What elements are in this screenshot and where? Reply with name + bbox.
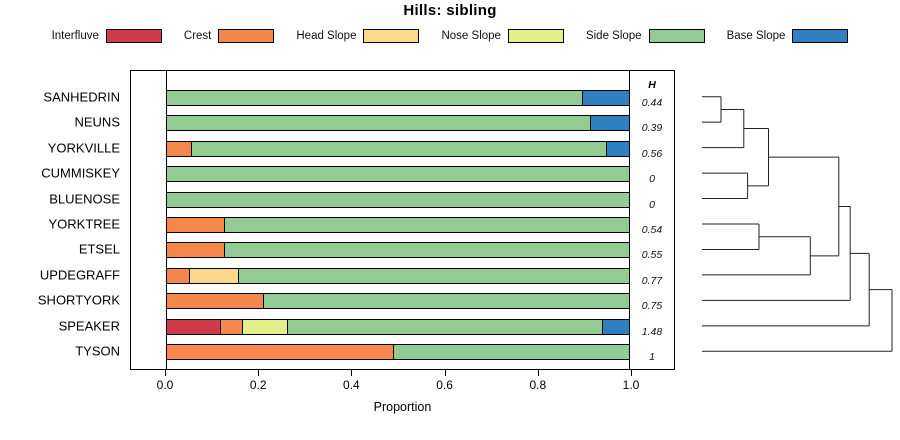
legend-item-label: Crest bbox=[184, 30, 211, 42]
bar-segment[interactable] bbox=[606, 142, 629, 156]
bar-segment[interactable] bbox=[191, 142, 606, 156]
chart-row bbox=[166, 342, 630, 362]
x-axis-tick-label: 0.4 bbox=[343, 378, 360, 392]
h-column: H 0.440.390.56000.540.550.770.751.481 bbox=[632, 70, 674, 370]
chart-row bbox=[166, 317, 630, 337]
bar-segment[interactable] bbox=[167, 167, 629, 181]
h-value: 0.55 bbox=[632, 249, 672, 261]
bar-segment[interactable] bbox=[242, 320, 287, 334]
h-value: 1 bbox=[632, 351, 672, 363]
h-value: 0.39 bbox=[632, 122, 672, 134]
legend-color-swatch bbox=[649, 29, 705, 43]
legend-item[interactable]: Head Slope bbox=[296, 29, 419, 43]
chart-root: Hills: sibling InterfluveCrestHead Slope… bbox=[0, 0, 900, 440]
h-value: 0 bbox=[632, 173, 672, 185]
bar-segment[interactable] bbox=[167, 243, 224, 257]
stacked-bar[interactable] bbox=[166, 192, 630, 208]
chart-title: Hills: sibling bbox=[0, 2, 900, 19]
chart-row bbox=[166, 190, 630, 210]
stacked-bar[interactable] bbox=[166, 242, 630, 258]
category-axis-labels: SANHEDRINNEUNSYORKVILLECUMMISKEYBLUENOSE… bbox=[0, 70, 126, 370]
h-column-header: H bbox=[632, 79, 672, 91]
bar-segment[interactable] bbox=[167, 294, 263, 308]
chart-row bbox=[166, 88, 630, 108]
chart-row bbox=[166, 113, 630, 133]
legend-item-label: Head Slope bbox=[296, 30, 356, 42]
category-label: SPEAKER bbox=[59, 318, 120, 333]
category-label: YORKTREE bbox=[48, 217, 120, 232]
category-label: BLUENOSE bbox=[49, 191, 120, 206]
bar-segment[interactable] bbox=[167, 116, 590, 130]
category-label: UPDEGRAFF bbox=[40, 267, 120, 282]
legend-item[interactable]: Base Slope bbox=[727, 29, 849, 43]
stacked-bar[interactable] bbox=[166, 217, 630, 233]
chart-row bbox=[166, 139, 630, 159]
x-axis-tick bbox=[351, 370, 352, 376]
x-axis-tick-label: 0.6 bbox=[436, 378, 453, 392]
h-value: 0.77 bbox=[632, 275, 672, 287]
chart-row bbox=[166, 291, 630, 311]
stacked-bar[interactable] bbox=[166, 344, 630, 360]
legend-color-swatch bbox=[106, 29, 162, 43]
bar-segment[interactable] bbox=[220, 320, 243, 334]
stacked-bar[interactable] bbox=[166, 141, 630, 157]
category-label: NEUNS bbox=[74, 115, 120, 130]
x-axis-tick-label: 1.0 bbox=[623, 378, 640, 392]
stacked-bar[interactable] bbox=[166, 90, 630, 106]
bar-segment[interactable] bbox=[287, 320, 602, 334]
bar-segment[interactable] bbox=[189, 269, 238, 283]
bar-segment[interactable] bbox=[602, 320, 629, 334]
category-label: TYSON bbox=[75, 344, 120, 359]
bar-segment[interactable] bbox=[224, 243, 629, 257]
chart-row bbox=[166, 215, 630, 235]
x-axis-tick bbox=[445, 370, 446, 376]
h-value: 0.44 bbox=[632, 97, 672, 109]
bar-segment[interactable] bbox=[224, 218, 629, 232]
category-label: CUMMISKEY bbox=[41, 166, 120, 181]
legend: InterfluveCrestHead SlopeNose SlopeSide … bbox=[0, 26, 900, 46]
chart-row bbox=[166, 164, 630, 184]
h-value: 0.54 bbox=[632, 224, 672, 236]
chart-row bbox=[166, 240, 630, 260]
bar-segment[interactable] bbox=[167, 91, 582, 105]
legend-item-label: Nose Slope bbox=[441, 30, 500, 42]
bar-segment[interactable] bbox=[393, 345, 629, 359]
x-axis-label: Proportion bbox=[130, 400, 675, 414]
category-label: SANHEDRIN bbox=[43, 89, 120, 104]
legend-color-swatch bbox=[218, 29, 274, 43]
h-value: 0.75 bbox=[632, 300, 672, 312]
category-label: SHORTYORK bbox=[38, 293, 120, 308]
dendrogram-svg bbox=[680, 70, 898, 370]
legend-item-label: Interfluve bbox=[52, 30, 99, 42]
dendrogram bbox=[680, 70, 898, 370]
legend-item[interactable]: Side Slope bbox=[586, 29, 705, 43]
chart-row bbox=[166, 266, 630, 286]
bar-segment[interactable] bbox=[167, 193, 629, 207]
plot-panel bbox=[130, 70, 675, 370]
stacked-bar[interactable] bbox=[166, 319, 630, 335]
legend-item[interactable]: Crest bbox=[184, 29, 274, 43]
x-axis-tick bbox=[631, 370, 632, 376]
legend-item-label: Side Slope bbox=[586, 30, 642, 42]
bar-segment[interactable] bbox=[167, 345, 393, 359]
x-axis-tick-label: 0.2 bbox=[250, 378, 267, 392]
legend-item-label: Base Slope bbox=[727, 30, 786, 42]
x-axis-tick-label: 0.0 bbox=[157, 378, 174, 392]
bar-segment[interactable] bbox=[582, 91, 629, 105]
legend-item[interactable]: Nose Slope bbox=[441, 29, 563, 43]
stacked-bar[interactable] bbox=[166, 115, 630, 131]
h-value: 0.56 bbox=[632, 148, 672, 160]
bar-segment[interactable] bbox=[590, 116, 629, 130]
legend-color-swatch bbox=[508, 29, 564, 43]
bar-segment[interactable] bbox=[167, 142, 191, 156]
category-label: YORKVILLE bbox=[48, 140, 120, 155]
stacked-bar[interactable] bbox=[166, 166, 630, 182]
x-axis-tick-label: 0.8 bbox=[529, 378, 546, 392]
x-axis-tick bbox=[538, 370, 539, 376]
stacked-bar[interactable] bbox=[166, 293, 630, 309]
legend-color-swatch bbox=[792, 29, 848, 43]
bar-segment[interactable] bbox=[167, 218, 224, 232]
category-label: ETSEL bbox=[79, 242, 120, 257]
h-value: 1.48 bbox=[632, 326, 672, 338]
stacked-bar[interactable] bbox=[166, 268, 630, 284]
x-axis-tick bbox=[258, 370, 259, 376]
legend-color-swatch bbox=[363, 29, 419, 43]
bar-segment[interactable] bbox=[167, 269, 189, 283]
stacked-bars-area bbox=[166, 71, 630, 369]
bar-segment[interactable] bbox=[167, 320, 220, 334]
bar-segment[interactable] bbox=[238, 269, 629, 283]
legend-item[interactable]: Interfluve bbox=[52, 29, 162, 43]
bar-segment[interactable] bbox=[263, 294, 629, 308]
x-axis-tick bbox=[165, 370, 166, 376]
h-value: 0 bbox=[632, 199, 672, 211]
x-axis: 0.00.20.40.60.81.0 bbox=[130, 370, 675, 400]
